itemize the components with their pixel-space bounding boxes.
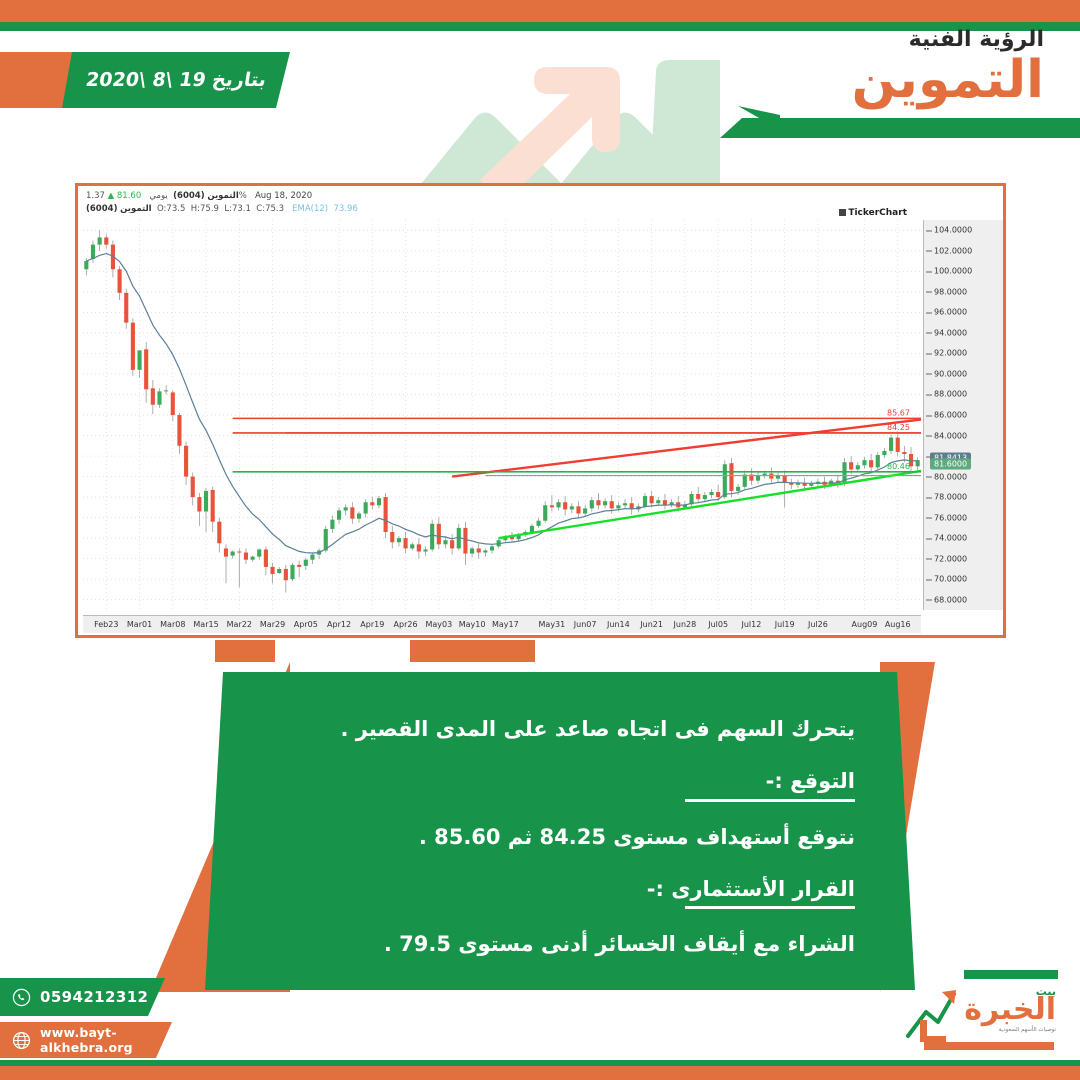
whatsapp-number: 0594212312 xyxy=(40,988,148,1006)
chart-symbol-name: التموين xyxy=(207,191,238,201)
price-axis-tick: 70.0000 xyxy=(934,575,967,584)
website-url: www.bayt-alkhebra.org xyxy=(40,1025,172,1055)
chart-ohlc-symbol-name: التموين xyxy=(120,204,151,214)
chart-plot-area: 85.6784.2580.46 xyxy=(83,220,921,610)
decor-pillar-left xyxy=(215,640,275,662)
date-axis-tick: Mar01 xyxy=(127,620,152,629)
logo-main-text: الخبرة xyxy=(964,995,1056,1025)
page-title: الرؤية الفنية التموين xyxy=(852,28,1044,106)
date-text: بتاريخ 19 \8 \2020 xyxy=(84,69,268,91)
globe-icon xyxy=(12,1031,31,1050)
price-axis-tick: 72.0000 xyxy=(934,554,967,563)
price-axis-tick: 102.0000 xyxy=(934,246,972,255)
title-main: التموين xyxy=(852,54,1044,106)
date-axis-tick: Jul05 xyxy=(708,620,728,629)
date-badge-accent xyxy=(0,52,74,108)
price-axis: 104.0000102.0000100.000098.000096.000094… xyxy=(923,220,1003,610)
chart-last-price: 81.60 xyxy=(117,191,141,201)
price-axis-tick: 104.0000 xyxy=(934,226,972,235)
decision-divider xyxy=(685,906,855,909)
date-axis-tick: Mar22 xyxy=(227,620,252,629)
chart-high: H:75.9 xyxy=(191,204,219,214)
tickerchart-logo-icon xyxy=(839,209,846,216)
price-axis-tick: 90.0000 xyxy=(934,369,967,378)
logo-text-group: بيت الخبرة توصيات الأسهم السعودية xyxy=(964,986,1056,1034)
date-axis-tick: Jul12 xyxy=(741,620,761,629)
chart-info-line-1: التموين (6004) يومي 81.60 ▲ 1.37% Aug 18… xyxy=(86,190,995,203)
date-axis-tick: Feb23 xyxy=(94,620,118,629)
date-axis-tick: May17 xyxy=(492,620,519,629)
tickerchart-watermark: TickerChart xyxy=(839,208,907,218)
price-axis-tick: 98.0000 xyxy=(934,287,967,296)
price-axis-tick: 94.0000 xyxy=(934,328,967,337)
price-axis-tick: 80.0000 xyxy=(934,472,967,481)
whatsapp-contact[interactable]: 0594212312 xyxy=(0,978,165,1016)
top-orange-bar xyxy=(0,0,1080,22)
title-underline-bar xyxy=(720,118,1080,138)
forecast-heading: التوقع :- xyxy=(265,768,855,794)
date-axis-tick: Aug09 xyxy=(852,620,878,629)
date-axis-tick: Apr26 xyxy=(394,620,418,629)
chart-open: O:73.5 xyxy=(157,204,185,214)
date-axis-tick: May31 xyxy=(539,620,566,629)
chart-ohlc-symbol-code: (6004) xyxy=(86,204,117,214)
analysis-summary: يتحرك السهم فى اتجاه صاعد على المدى القص… xyxy=(265,716,855,742)
date-axis-tick: Mar29 xyxy=(260,620,285,629)
chart-symbol-code: (6004) xyxy=(173,191,204,201)
decor-pillar-right xyxy=(410,640,535,662)
chart-low: L:73.1 xyxy=(224,204,251,214)
chart-date: Aug 18, 2020 xyxy=(255,191,312,201)
logo-growth-arrow-icon xyxy=(904,984,962,1046)
chart-panel: التموين (6004) يومي 81.60 ▲ 1.37% Aug 18… xyxy=(75,183,1006,638)
decision-heading: القرار الأستثمارى :- xyxy=(265,876,855,902)
price-axis-tick: 68.0000 xyxy=(934,595,967,604)
price-axis-tick: 96.0000 xyxy=(934,308,967,317)
date-axis-tick: Jul19 xyxy=(775,620,795,629)
tickerchart-label: TickerChart xyxy=(848,208,907,218)
price-axis-tick: 100.0000 xyxy=(934,267,972,276)
price-axis-tick: 92.0000 xyxy=(934,349,967,358)
svg-text:85.67: 85.67 xyxy=(887,408,910,417)
svg-text:80.46: 80.46 xyxy=(887,462,910,471)
website-contact[interactable]: www.bayt-alkhebra.org xyxy=(0,1022,172,1058)
date-axis-tick: Mar15 xyxy=(193,620,218,629)
brand-logo: بيت الخبرة توصيات الأسهم السعودية xyxy=(898,966,1058,1058)
forecast-text: نتوقع أستهداف مستوى 84.25 ثم 85.60 . xyxy=(265,824,855,850)
price-axis-tick: 78.0000 xyxy=(934,493,967,502)
date-axis-tick: Jun14 xyxy=(607,620,630,629)
price-axis-tick: 88.0000 xyxy=(934,390,967,399)
arrow-watermark xyxy=(420,60,780,185)
date-axis-tick: Apr19 xyxy=(360,620,384,629)
date-axis-tick: Apr12 xyxy=(327,620,351,629)
date-axis: Feb23Mar01Mar08Mar15Mar22Mar29Apr05Apr12… xyxy=(83,615,921,633)
date-axis-tick: Jun28 xyxy=(674,620,697,629)
price-badge: 81.6000 xyxy=(930,459,971,470)
date-axis-tick: Aug16 xyxy=(885,620,911,629)
logo-top-bar xyxy=(964,970,1058,979)
title-subtitle: الرؤية الفنية xyxy=(852,28,1044,52)
date-axis-tick: Apr05 xyxy=(294,620,318,629)
price-axis-tick: 84.0000 xyxy=(934,431,967,440)
date-badge-body: بتاريخ 19 \8 \2020 xyxy=(62,52,290,108)
svg-text:84.25: 84.25 xyxy=(887,423,910,432)
date-axis-tick: Jul26 xyxy=(808,620,828,629)
date-axis-tick: May10 xyxy=(459,620,486,629)
bottom-orange-bar xyxy=(0,1066,1080,1080)
chart-timeframe: يومي xyxy=(149,191,167,201)
date-axis-tick: Mar08 xyxy=(160,620,185,629)
date-badge: بتاريخ 19 \8 \2020 xyxy=(0,52,290,108)
analysis-panel: يتحرك السهم فى اتجاه صاعد على المدى القص… xyxy=(205,672,915,990)
chart-ema-value: 73.96 xyxy=(334,204,358,214)
logo-tagline: توصيات الأسهم السعودية xyxy=(964,1028,1056,1034)
price-axis-tick: 86.0000 xyxy=(934,411,967,420)
whatsapp-icon xyxy=(12,988,31,1007)
date-axis-tick: Jun07 xyxy=(574,620,597,629)
decision-text: الشراء مع أيقاف الخسائر أدنى مستوى 79.5 … xyxy=(265,931,855,957)
up-arrow-icon: ▲ xyxy=(108,191,115,201)
forecast-divider xyxy=(685,799,855,802)
candlestick-svg: 85.6784.2580.46 xyxy=(83,220,921,610)
date-axis-tick: May03 xyxy=(425,620,452,629)
price-axis-tick: 74.0000 xyxy=(934,534,967,543)
price-axis-tick: 76.0000 xyxy=(934,513,967,522)
chart-ema-label: EMA(12) xyxy=(292,204,328,214)
chart-close: C:75.3 xyxy=(256,204,284,214)
date-axis-tick: Jun21 xyxy=(640,620,663,629)
poster-canvas: بتاريخ 19 \8 \2020 الرؤية الفنية التموين… xyxy=(0,0,1080,1080)
